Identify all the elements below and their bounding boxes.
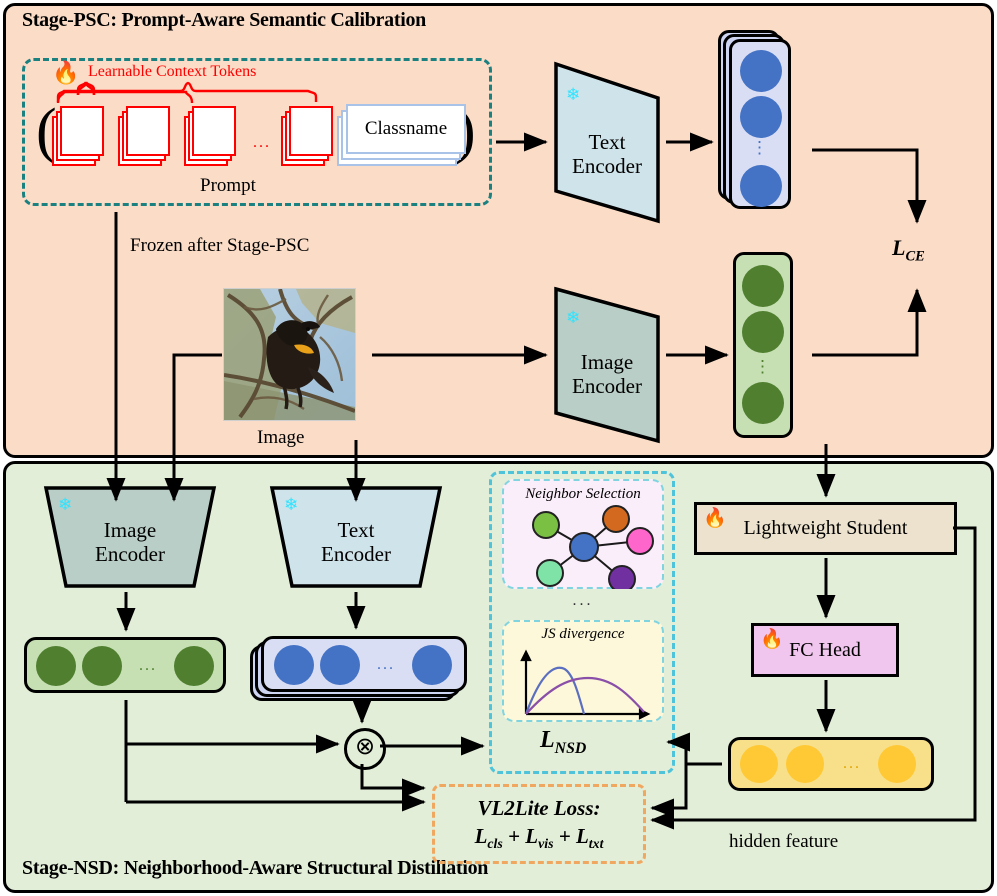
context-token-3: [184, 106, 236, 166]
vl2lite-formula: Lcls + Lvis + Ltxt: [475, 824, 604, 852]
image-encoder-top: ❄ Image Encoder: [552, 285, 662, 445]
text-encoder-bottom: ❄ Text Encoder: [268, 484, 444, 590]
feature-bar-ellipsis: ...: [128, 657, 168, 675]
visual-feature-bar: ...: [24, 637, 229, 699]
feature-dot: [742, 311, 784, 353]
feature-dot: [740, 96, 782, 138]
text-feature-bar: ...: [250, 633, 472, 705]
classname-label: Classname: [346, 104, 466, 154]
feature-dot: [740, 165, 782, 207]
feature-vertical-ellipsis: ⋮: [729, 143, 791, 153]
text-encoder-top-label: Text Encoder: [552, 60, 662, 237]
feature-dot: [274, 645, 314, 685]
figure-root: Stage-PSC: Prompt-Aware Semantic Calibra…: [0, 0, 997, 896]
context-token-1: [52, 106, 104, 166]
text-feature-stack: ⋮: [718, 30, 800, 210]
feature-dot: [742, 265, 784, 307]
vl2lite-loss-box: VL2Lite Loss: Lcls + Lvis + Ltxt: [432, 784, 646, 864]
image-encoder-bottom-label: Image Encoder: [42, 484, 218, 596]
flame-icon: 🔥: [760, 630, 784, 649]
context-token-4: [281, 106, 333, 166]
input-image: [223, 288, 356, 421]
image-caption: Image: [257, 427, 304, 449]
feature-dot: [320, 645, 360, 685]
neighbor-selection-panel: Neighbor Selection: [502, 479, 664, 589]
feature-bar-ellipsis: ...: [832, 755, 872, 773]
loss-ce-label: LCE: [892, 235, 925, 265]
token-ellipsis: ...: [247, 134, 277, 152]
feature-dot: [740, 50, 782, 92]
feature-dot: [82, 646, 122, 686]
feature-dot: [878, 745, 916, 783]
image-encoder-top-label: Image Encoder: [552, 285, 662, 455]
learnable-context-tokens-label: Learnable Context Tokens: [88, 63, 256, 81]
text-encoder-bottom-label: Text Encoder: [268, 484, 444, 596]
feature-dot: [36, 646, 76, 686]
feature-dot: [742, 382, 784, 424]
feature-dot: [786, 745, 824, 783]
hidden-feature-label: hidden feature: [729, 831, 838, 853]
feature-dot: [740, 745, 778, 783]
panel-separator-dots: ...: [502, 592, 664, 610]
js-divergence-panel: JS divergence: [502, 620, 664, 722]
fc-head-label: FC Head: [789, 639, 861, 662]
feature-vertical-ellipsis: ⋮: [733, 362, 793, 372]
flame-icon: 🔥: [703, 509, 727, 528]
context-token-2: [118, 106, 170, 166]
text-encoder-top: ❄ Text Encoder: [552, 60, 662, 225]
loss-nsd-label: LNSD: [540, 727, 586, 758]
multiply-operator: ⊗: [344, 728, 386, 770]
neighbor-graph: [504, 503, 662, 589]
stage-nsd-title: Stage-NSD: Neighborhood-Aware Structural…: [22, 857, 488, 880]
classname-token: Classname: [337, 104, 467, 166]
js-divergence-title: JS divergence: [504, 626, 662, 643]
lightweight-student-label: Lightweight Student: [744, 517, 908, 540]
feature-dot: [174, 646, 214, 686]
lightweight-student-box[interactable]: 🔥 Lightweight Student: [694, 502, 957, 555]
neighbor-selection-title: Neighbor Selection: [504, 486, 662, 503]
stage-psc-title: Stage-PSC: Prompt-Aware Semantic Calibra…: [22, 9, 426, 32]
fc-head-box[interactable]: 🔥 FC Head: [751, 623, 899, 677]
image-encoder-bottom: ❄ Image Encoder: [42, 484, 218, 590]
feature-bar-ellipsis: ...: [366, 656, 406, 674]
flame-icon: 🔥: [52, 62, 79, 84]
prompt-label: Prompt: [200, 175, 256, 197]
feature-dot: [412, 645, 452, 685]
hidden-feature-bar: ...: [728, 737, 938, 795]
frozen-after-psc-note: Frozen after Stage-PSC: [130, 235, 309, 257]
vl2lite-title: VL2Lite Loss:: [477, 796, 600, 821]
js-divergence-chart: [504, 646, 662, 722]
image-feature-stack: ⋮: [733, 252, 795, 440]
